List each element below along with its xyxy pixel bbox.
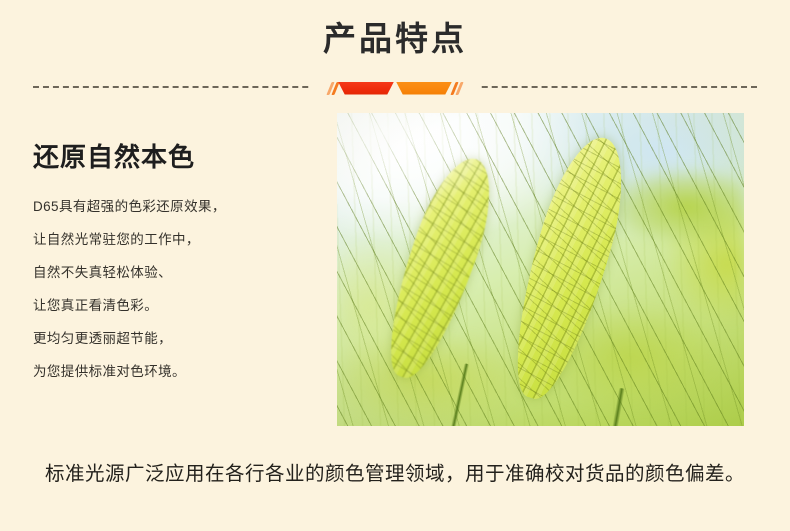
page-header: 产品特点 [0,0,790,100]
slash-group-left [329,81,337,95]
feature-text-column: 还原自然本色 D65具有超强的色彩还原效果， 让自然光常驻您的工作中， 自然不失… [33,140,323,388]
product-feature-page: 产品特点 还原自然本色 D65具有超强的色彩还原效果， 让自然光常驻您的工作中，… [0,0,790,531]
feature-line-2: 让自然光常驻您的工作中， [33,223,323,256]
bottom-caption: 标准光源广泛应用在各行各业的颜色管理领域，用于准确校对货品的颜色偏差。 [0,460,790,488]
trapezoid-orange-icon [396,82,452,95]
trapezoid-red-icon [338,82,394,95]
feature-line-4: 让您真正看清色彩。 [33,289,323,322]
wheat-photo [337,113,744,426]
feature-line-1: D65具有超强的色彩还原效果， [33,190,323,223]
feature-line-5: 更均匀更透丽超节能， [33,322,323,355]
feature-line-6: 为您提供标准对色环境。 [33,355,323,388]
divider-ornament-group [312,77,478,99]
page-title: 产品特点 [0,19,790,59]
decorative-divider [33,86,757,88]
slash-group-right [453,81,461,95]
photo-vignette-layer [337,113,744,426]
feature-line-3: 自然不失真轻松体验、 [33,256,323,289]
feature-heading: 还原自然本色 [33,140,323,174]
